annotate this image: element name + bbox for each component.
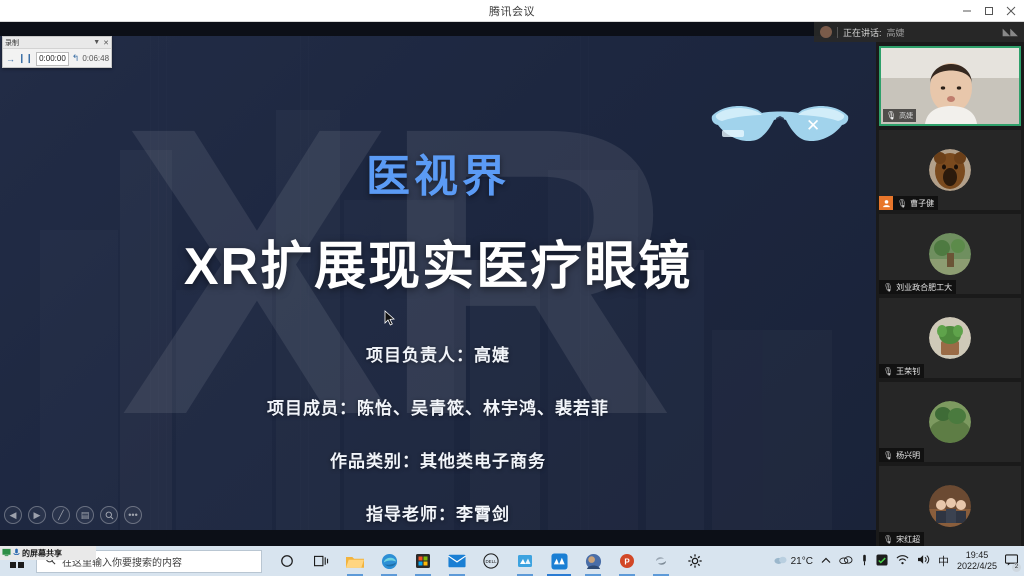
cortana-icon[interactable]: [270, 546, 304, 576]
meeting-window-body: XR ✕ 医视界 XR扩展现实医疗眼镜 项目: [0, 22, 1024, 546]
microphone-muted-icon: 🎙: [883, 283, 893, 292]
taskbar-app-icons: DELL P: [270, 546, 712, 576]
participant-name-chip: 🎙 宋红超: [879, 532, 924, 546]
participant-tile[interactable]: 🎙 王荣钊: [879, 298, 1021, 378]
window-title: 腾讯会议: [489, 3, 535, 19]
screen-share-icon: [2, 548, 11, 559]
notification-center-icon[interactable]: 2: [1005, 554, 1018, 569]
weather-icon: [774, 554, 787, 568]
mail-icon[interactable]: [440, 546, 474, 576]
participant-tile[interactable]: 🎙 杨兴明: [879, 382, 1021, 462]
tray-expand-chevron-icon[interactable]: [821, 555, 831, 567]
avatar: [929, 485, 971, 527]
wechat-icon[interactable]: [576, 546, 610, 576]
recorder-undo-icon[interactable]: ↰: [72, 53, 80, 64]
speaking-name: 高婕: [887, 26, 905, 39]
pen-tool-button[interactable]: ╱: [52, 506, 70, 524]
participant-name: 高婕: [899, 111, 913, 121]
recorder-header: 录制 ▼ ✕: [3, 37, 111, 49]
onedrive-icon[interactable]: [839, 555, 853, 567]
avatar: [929, 401, 971, 443]
file-explorer-icon[interactable]: [338, 546, 372, 576]
minimize-button[interactable]: [956, 0, 978, 22]
collapse-chevron-icon[interactable]: ◣◣: [1003, 27, 1018, 38]
previous-slide-button[interactable]: ◀: [4, 506, 22, 524]
participant-name: 刘业政合肥工大: [896, 282, 952, 293]
close-button[interactable]: [1000, 0, 1022, 22]
microphone-muted-icon: 🎙: [883, 367, 893, 376]
next-slide-button[interactable]: ▶: [28, 506, 46, 524]
screen-share-indicator[interactable]: 的屏幕共享: [0, 546, 96, 560]
avatar: [929, 317, 971, 359]
ime-language-indicator[interactable]: 中: [938, 553, 949, 569]
microsoft-store-icon[interactable]: [406, 546, 440, 576]
host-badge-icon: [879, 196, 893, 210]
weather-temperature: 21°C: [791, 556, 813, 567]
speaking-label: 正在讲话:: [843, 26, 882, 39]
microphone-muted-icon: 🎙: [897, 199, 907, 208]
participant-name: 曹子健: [910, 198, 934, 209]
avatar: [929, 233, 971, 275]
svg-text:DELL: DELL: [485, 559, 497, 564]
clock-time: 19:45: [957, 550, 997, 561]
window-controls: [956, 0, 1022, 22]
slide-line-members: 项目成员：陈怡、吴青筱、林宇鸿、裴若菲: [0, 394, 876, 419]
app-icon[interactable]: [508, 546, 542, 576]
browser-icon[interactable]: [644, 546, 678, 576]
active-speaker-banner: 正在讲话: 高婕 ◣◣: [814, 22, 1024, 42]
microphone-icon: 🎙: [886, 111, 896, 120]
settings-icon[interactable]: [678, 546, 712, 576]
recorder-pause-icon[interactable]: ❙❙: [18, 53, 33, 64]
recorder-title: 录制: [5, 38, 19, 48]
windows-taskbar: 在这里输入你要搜索的内容 DELL: [0, 546, 1024, 576]
participant-name: 王荣钊: [896, 366, 920, 377]
volume-icon[interactable]: [917, 554, 930, 568]
screen-share-area: XR ✕ 医视界 XR扩展现实医疗眼镜 项目: [0, 22, 876, 546]
recorder-dropdown-icon[interactable]: ▼: [93, 39, 100, 46]
svg-text:P: P: [624, 558, 630, 567]
screen-root: 腾讯会议: [0, 0, 1024, 576]
slide-main-title: XR扩展现实医疗眼镜: [184, 224, 692, 299]
network-wifi-icon[interactable]: [896, 554, 909, 568]
participant-tile-active[interactable]: 🎙 高婕: [879, 46, 1021, 126]
more-options-button[interactable]: •••: [124, 506, 142, 524]
participant-tile[interactable]: 🎙 宋红超: [879, 466, 1021, 546]
slide-line-leader: 项目负责人：高婕: [0, 341, 876, 366]
slide-line-category: 作品类别：其他类电子商务: [0, 447, 876, 472]
ppt-presenter-toolbar: ◀ ▶ ╱ ▤ •••: [4, 506, 142, 524]
microphone-muted-icon: 🎙: [883, 535, 893, 544]
mic-status-chip: 🎙 高婕: [883, 109, 916, 122]
active-speaker-avatar: [820, 26, 832, 38]
tencent-meeting-icon[interactable]: [542, 546, 576, 576]
participant-tile[interactable]: 🎙 曹子健: [879, 130, 1021, 210]
participant-name: 杨兴明: [896, 450, 920, 461]
presentation-slide: XR ✕ 医视界 XR扩展现实医疗眼镜 项目: [0, 36, 876, 530]
maximize-button[interactable]: [978, 0, 1000, 22]
slide-brand-title: 医视界: [366, 140, 510, 204]
slide-content: 医视界 XR扩展现实医疗眼镜 项目负责人：高婕 项目成员：陈怡、吴青筱、林宇鸿、…: [0, 36, 876, 530]
security-shield-icon[interactable]: [876, 554, 888, 569]
notification-count-badge: 2: [1012, 563, 1021, 572]
screen-share-label: 的屏幕共享: [22, 548, 62, 559]
participant-name-chip: 🎙 曹子健: [893, 196, 938, 210]
recorder-close-icon[interactable]: ✕: [103, 39, 109, 47]
mouse-cursor: [384, 310, 395, 331]
dell-support-icon[interactable]: DELL: [474, 546, 508, 576]
participant-tile[interactable]: 🎙 刘业政合肥工大: [879, 214, 1021, 294]
system-tray: 21°C 中 19:45 2022/4/25: [774, 550, 1024, 572]
recorder-body: → ❙❙ 0:00:00 ↰ 0:06:48: [3, 49, 111, 68]
microphone-icon: [13, 548, 20, 559]
screen-recorder-widget[interactable]: 录制 ▼ ✕ → ❙❙ 0:00:00 ↰ 0:06:48: [2, 36, 112, 68]
powerpoint-icon[interactable]: P: [610, 546, 644, 576]
slide-detail-lines: 项目负责人：高婕 项目成员：陈怡、吴青筱、林宇鸿、裴若菲 作品类别：其他类电子商…: [0, 341, 876, 530]
participant-name: 宋红超: [896, 534, 920, 545]
edge-browser-icon[interactable]: [372, 546, 406, 576]
zoom-button[interactable]: [100, 506, 118, 524]
weather-widget[interactable]: 21°C: [774, 554, 813, 568]
taskbar-clock[interactable]: 19:45 2022/4/25: [957, 550, 997, 572]
task-view-icon[interactable]: [304, 546, 338, 576]
microphone-muted-icon: 🎙: [883, 451, 893, 460]
participant-name-chip: 🎙 杨兴明: [879, 448, 924, 462]
usb-device-icon[interactable]: [861, 554, 868, 569]
window-titlebar: 腾讯会议: [0, 0, 1024, 22]
slide-overview-button[interactable]: ▤: [76, 506, 94, 524]
recorder-play-icon[interactable]: →: [6, 54, 15, 64]
participant-name-chip: 🎙 王荣钊: [879, 364, 924, 378]
recorder-total-time: 0:06:48: [82, 54, 109, 63]
recorder-elapsed-time: 0:00:00: [36, 52, 69, 66]
avatar: [929, 149, 971, 191]
participant-name-chip: 🎙 刘业政合肥工大: [879, 280, 956, 294]
clock-date: 2022/4/25: [957, 561, 997, 572]
participants-sidebar: 正在讲话: 高婕 ◣◣: [876, 22, 1024, 546]
